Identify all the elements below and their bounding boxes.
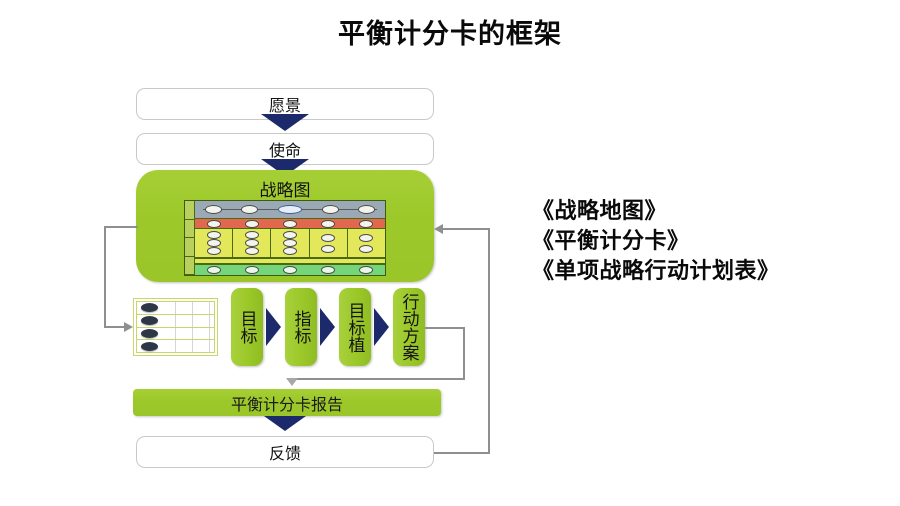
down-arrow-icon-vision-mission [261,114,309,131]
down-arrow-icon-into-report [286,378,298,386]
feedback-box[interactable]: 反馈 [136,436,434,468]
connector-left-bottom [104,326,126,328]
map-band-learning-growth [195,264,385,275]
table-row [137,315,214,328]
table-row [137,302,214,315]
bsc-column-label: 行动方案 [401,293,418,361]
connector-left-top [104,226,138,228]
document-list: 《战略地图》 《平衡计分卡》 《单项战略行动计划表》 [532,196,780,286]
table-row [137,340,214,352]
bsc-column-label: 目标植 [347,302,364,353]
right-arrow-icon-into-table [124,322,133,332]
mission-label: 使命 [269,137,301,161]
right-arrow-icon-3 [374,308,389,346]
down-arrow-icon-report-feedback [264,416,306,431]
bsc-column-target[interactable]: 目标植 [339,288,371,366]
page-title: 平衡计分卡的框架 [0,16,900,52]
objectives-table-grid [136,301,215,353]
bullet-icon [141,329,158,338]
bullet-icon [141,316,158,325]
slide-canvas: 平衡计分卡的框架 愿景 使命 战略图 [0,0,900,506]
strategy-map-thumbnail [184,200,386,276]
bsc-column-label: 目标 [239,310,256,344]
connector-feedback-top [443,228,490,230]
vision-label: 愿景 [269,92,301,116]
feedback-label: 反馈 [269,440,301,464]
map-perspective-labels [185,201,195,275]
map-body [195,201,385,275]
bsc-column-label: 指标 [293,310,310,344]
bullet-icon [141,342,158,351]
scorecard-report-bar[interactable]: 平衡计分卡报告 [133,389,441,416]
bsc-column-measure[interactable]: 指标 [285,288,317,366]
right-arrow-icon-1 [266,308,281,346]
document-item-balanced-scorecard: 《平衡计分卡》 [532,226,780,256]
table-row [137,328,214,341]
connector-feedback-bottom [434,452,490,454]
connector-inner-top [425,327,465,329]
connector-inner-bottom [288,378,465,380]
strategy-map-panel[interactable]: 战略图 [136,170,434,282]
connector-left-vertical [104,226,106,327]
right-arrow-icon-2 [320,308,335,346]
map-band-financial [195,201,385,219]
strategy-map-label: 战略图 [136,176,434,201]
left-arrow-icon-into-strategy-map [434,224,443,234]
bsc-column-initiative[interactable]: 行动方案 [393,288,425,366]
bullet-icon [141,303,158,312]
bsc-column-objective[interactable]: 目标 [231,288,263,366]
document-item-strategy-map: 《战略地图》 [532,196,780,226]
objectives-table[interactable] [133,298,218,356]
document-item-action-plan: 《单项战略行动计划表》 [532,256,780,286]
map-band-internal-process [195,229,385,258]
connector-feedback-vertical [488,228,490,454]
scorecard-report-label: 平衡计分卡报告 [231,391,343,415]
connector-inner-vertical [463,327,465,379]
map-band-customer [195,219,385,230]
